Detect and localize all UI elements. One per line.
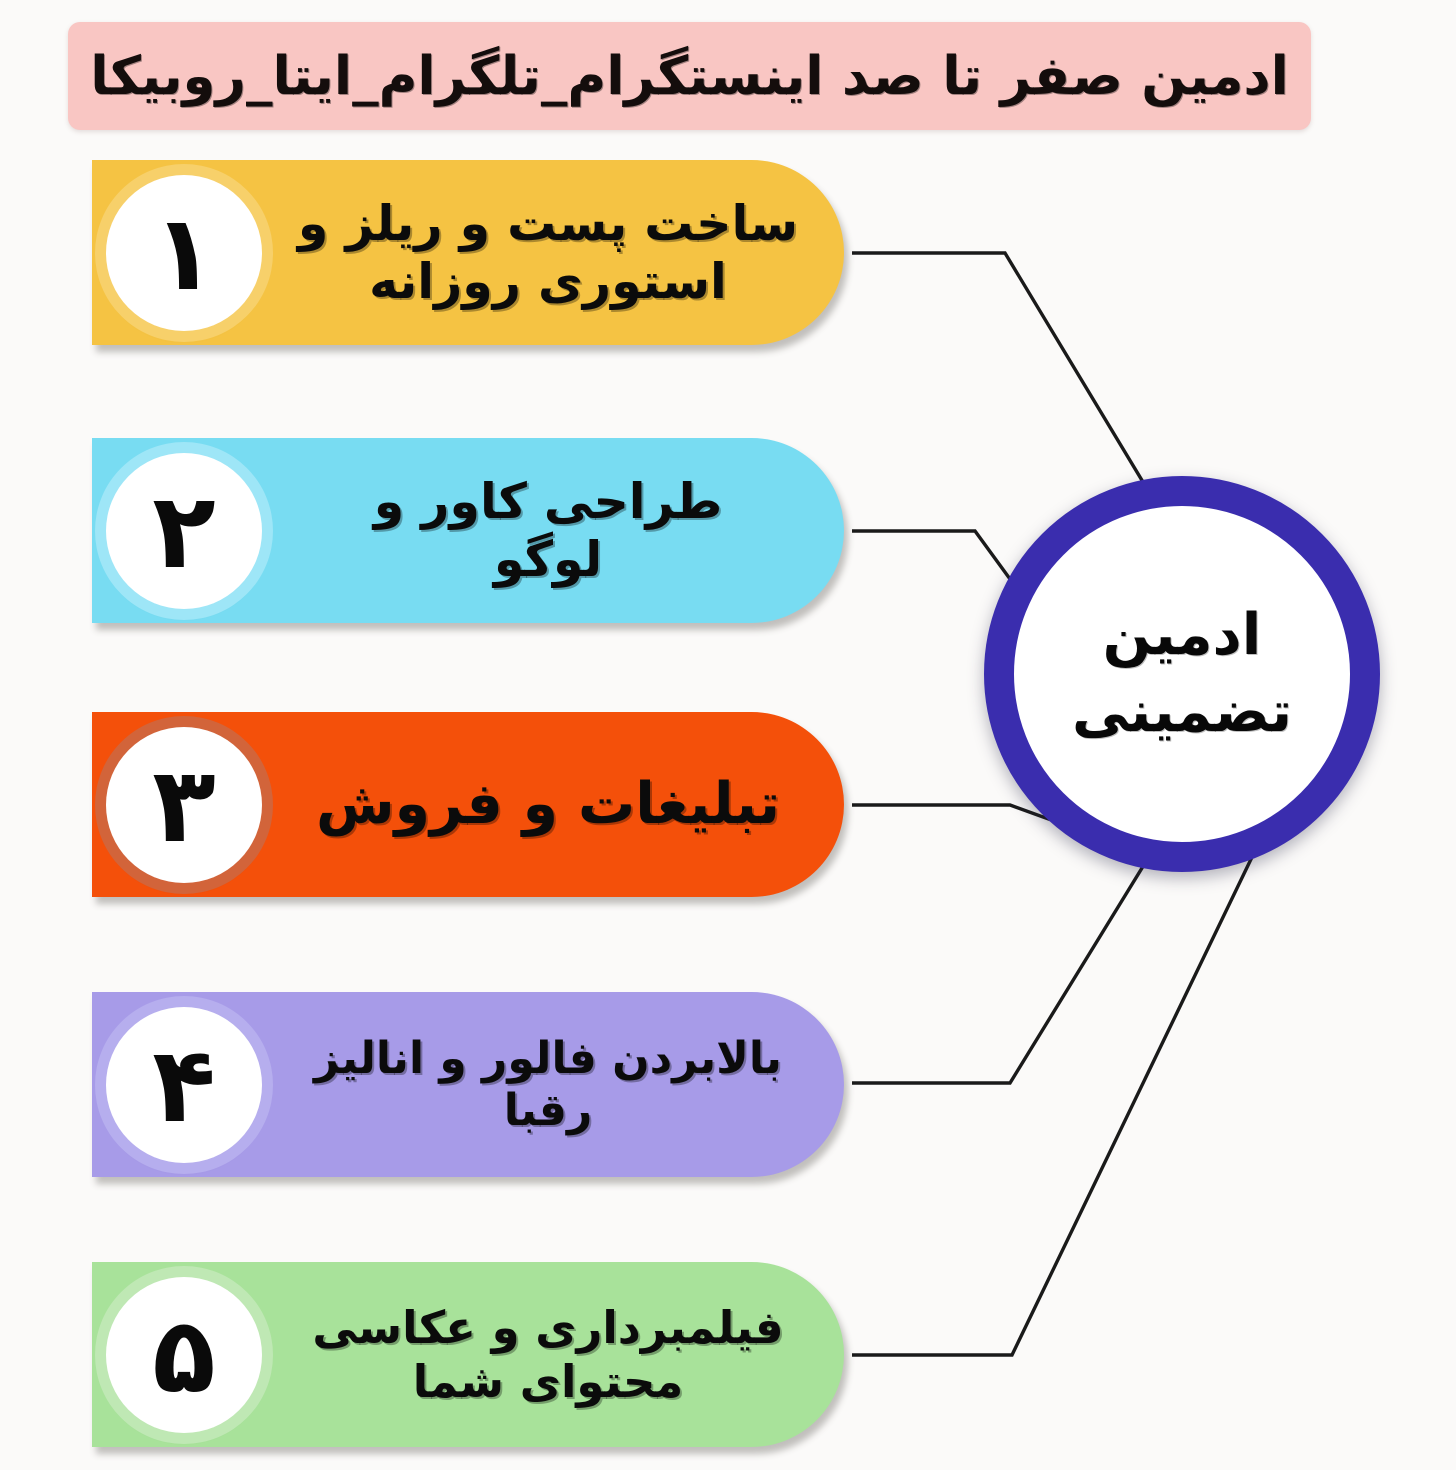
header-banner: ادمین صفر تا صد اینستگرام_تلگرام_ایتا_رو… (68, 22, 1311, 130)
infographic-canvas: ادمین صفر تا صد اینستگرام_تلگرام_ایتا_رو… (0, 0, 1456, 1470)
step-card-4-badge: ۴ (106, 1007, 262, 1163)
center-hub-label: ادمین تضمینی (1072, 597, 1292, 751)
connector-line-1 (852, 253, 1152, 497)
step-card-5-badge: ۵ (106, 1277, 262, 1433)
step-card-3-badge: ۳ (106, 727, 262, 883)
header-title: ادمین صفر تا صد اینستگرام_تلگرام_ایتا_رو… (90, 50, 1289, 103)
step-card-5-number: ۵ (152, 1303, 215, 1407)
connector-line-4 (852, 855, 1150, 1083)
center-hub[interactable]: ادمین تضمینی (984, 476, 1380, 872)
step-card-4-number: ۴ (152, 1033, 215, 1137)
connector-line-2 (852, 531, 1018, 590)
step-card-2[interactable]: طراحی کاور و لوگو ۲ (92, 438, 844, 623)
step-card-4-label: بالابردن فالور و انالیز رقبا (262, 1033, 844, 1137)
step-card-1-badge: ۱ (106, 175, 262, 331)
step-card-4[interactable]: بالابردن فالور و انالیز رقبا ۴ (92, 992, 844, 1177)
step-card-5[interactable]: فیلمبرداری و عکاسی محتوای شما ۵ (92, 1262, 844, 1447)
step-card-5-label: فیلمبرداری و عکاسی محتوای شما (262, 1301, 844, 1407)
step-card-1-label: ساخت پست و ریلز و استوری روزانه (262, 195, 844, 311)
connector-line-5 (852, 855, 1253, 1355)
step-card-2-number: ۲ (152, 479, 215, 583)
step-card-2-label: طراحی کاور و لوگو (262, 473, 844, 589)
step-card-3[interactable]: تبلیغات و فروش ۳ (92, 712, 844, 897)
step-card-3-number: ۳ (152, 753, 215, 857)
step-card-2-badge: ۲ (106, 453, 262, 609)
step-card-1[interactable]: ساخت پست و ریلز و استوری روزانه ۱ (92, 160, 844, 345)
step-card-3-label: تبلیغات و فروش (262, 771, 844, 838)
step-card-1-number: ۱ (152, 201, 215, 305)
